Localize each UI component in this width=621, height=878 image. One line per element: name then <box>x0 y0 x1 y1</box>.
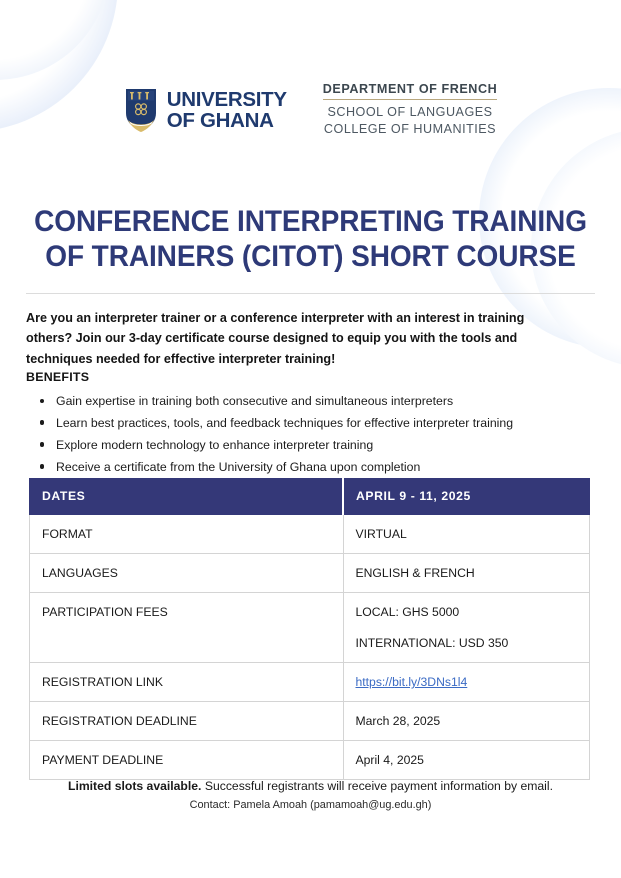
university-logo-line-1: UNIVERSITY <box>167 89 287 110</box>
table-row: FORMAT VIRTUAL <box>30 515 590 554</box>
row-value-participation-fees: LOCAL: GHS 5000 INTERNATIONAL: USD 350 <box>343 593 590 663</box>
table-row: LANGUAGES ENGLISH & FRENCH <box>30 554 590 593</box>
row-label-languages: LANGUAGES <box>30 554 344 593</box>
department-block: DEPARTMENT OF FRENCH SCHOOL OF LANGUAGES… <box>323 82 497 137</box>
footer-note-bold: Limited slots available. <box>68 779 201 793</box>
bullet-icon <box>40 464 44 468</box>
poster-header: UNIVERSITY OF GHANA DEPARTMENT OF FRENCH… <box>0 78 621 142</box>
intro-paragraph: Are you an interpreter trainer or a conf… <box>26 308 556 369</box>
benefit-text: Explore modern technology to enhance int… <box>56 438 373 452</box>
decorative-arc-top-left-inner <box>0 0 110 80</box>
fee-international: INTERNATIONAL: USD 350 <box>356 636 578 650</box>
row-label-format: FORMAT <box>30 515 344 554</box>
benefits-list: Gain expertise in training both consecut… <box>40 392 513 480</box>
row-value-languages: ENGLISH & FRENCH <box>343 554 590 593</box>
row-value-payment-deadline: April 4, 2025 <box>343 741 590 780</box>
benefit-text: Gain expertise in training both consecut… <box>56 394 453 408</box>
bullet-icon <box>40 442 44 446</box>
bullet-icon <box>40 399 44 403</box>
row-label-participation-fees: PARTICIPATION FEES <box>30 593 344 663</box>
list-item: Receive a certificate from the Universit… <box>40 458 513 477</box>
school-name: SCHOOL OF LANGUAGES <box>323 104 497 121</box>
table-row: PAYMENT DEADLINE April 4, 2025 <box>30 741 590 780</box>
footer-note-rest: Successful registrants will receive paym… <box>201 779 553 793</box>
page-title-line-2: OF TRAINERS (CITOT) SHORT COURSE <box>16 240 606 275</box>
row-label-registration-deadline: REGISTRATION DEADLINE <box>30 702 344 741</box>
table-row: REGISTRATION LINK https://bit.ly/3DNs1l4 <box>30 663 590 702</box>
page-title-line-1: CONFERENCE INTERPRETING TRAINING <box>16 205 606 240</box>
row-value-registration-deadline: March 28, 2025 <box>343 702 590 741</box>
benefits-heading: BENEFITS <box>26 370 89 384</box>
page-title: CONFERENCE INTERPRETING TRAINING OF TRAI… <box>16 205 606 274</box>
table-header-dates-value: APRIL 9 - 11, 2025 <box>343 479 590 515</box>
department-divider <box>323 99 497 100</box>
college-name: COLLEGE OF HUMANITIES <box>323 121 497 138</box>
row-value-format: VIRTUAL <box>343 515 590 554</box>
table-body: FORMAT VIRTUAL LANGUAGES ENGLISH & FRENC… <box>30 515 590 780</box>
list-item: Gain expertise in training both consecut… <box>40 392 513 411</box>
list-item: Learn best practices, tools, and feedbac… <box>40 414 513 433</box>
table-head: DATES APRIL 9 - 11, 2025 <box>30 479 590 515</box>
row-label-registration-link: REGISTRATION LINK <box>30 663 344 702</box>
row-value-registration-link: https://bit.ly/3DNs1l4 <box>343 663 590 702</box>
registration-link[interactable]: https://bit.ly/3DNs1l4 <box>356 675 468 689</box>
poster-page: UNIVERSITY OF GHANA DEPARTMENT OF FRENCH… <box>0 0 621 878</box>
department-name: DEPARTMENT OF FRENCH <box>323 82 497 99</box>
list-item: Explore modern technology to enhance int… <box>40 436 513 455</box>
table-row: PARTICIPATION FEES LOCAL: GHS 5000 INTER… <box>30 593 590 663</box>
table-header-row: DATES APRIL 9 - 11, 2025 <box>30 479 590 515</box>
bullet-icon <box>40 420 44 424</box>
fee-local: LOCAL: GHS 5000 <box>356 605 578 619</box>
benefit-text: Receive a certificate from the Universit… <box>56 460 420 474</box>
footer-contact: Contact: Pamela Amoah (pamamoah@ug.edu.g… <box>0 799 621 811</box>
course-details-table: DATES APRIL 9 - 11, 2025 FORMAT VIRTUAL … <box>29 478 590 780</box>
title-divider <box>26 293 595 294</box>
row-label-payment-deadline: PAYMENT DEADLINE <box>30 741 344 780</box>
university-shield-icon <box>124 87 158 133</box>
table-header-dates-label: DATES <box>30 479 344 515</box>
footer-note: Limited slots available. Successful regi… <box>0 779 621 793</box>
table-row: REGISTRATION DEADLINE March 28, 2025 <box>30 702 590 741</box>
university-logo-wordmark: UNIVERSITY OF GHANA <box>167 89 287 131</box>
benefit-text: Learn best practices, tools, and feedbac… <box>56 416 513 430</box>
university-logo-line-2: OF GHANA <box>167 110 287 131</box>
university-of-ghana-logo: UNIVERSITY OF GHANA <box>124 87 287 133</box>
